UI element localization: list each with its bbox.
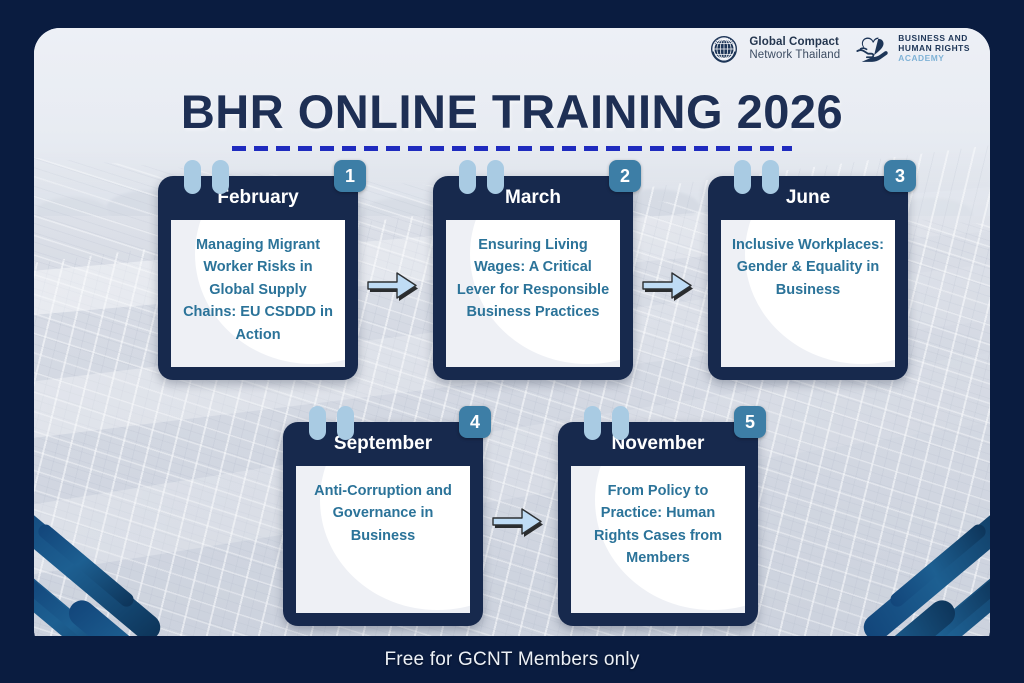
hand-heart-icon [854, 34, 890, 64]
calendar-tab-icon [459, 160, 476, 194]
card-number-badge: 3 [884, 160, 916, 192]
calendar-tab-icon [762, 160, 779, 194]
card-number-badge: 2 [609, 160, 641, 192]
calendar-tabs [184, 160, 229, 194]
calendar-tabs [459, 160, 504, 194]
card-body-panel: Anti-Corruption and Governance in Busine… [296, 466, 470, 613]
calendar-tab-icon [309, 406, 326, 440]
calendar-tab-icon [487, 160, 504, 194]
logo-global-compact-network-thailand: Global Compact Network Thailand [707, 32, 840, 66]
decoration-bars-left [34, 480, 244, 655]
card-body-panel: From Policy to Practice: Human Rights Ca… [571, 466, 745, 613]
calendar-tabs [584, 406, 629, 440]
calendar-tabs [734, 160, 779, 194]
calendar-tab-icon [734, 160, 751, 194]
calendar-tab-icon [612, 406, 629, 440]
title-block: BHR ONLINE TRAINING 2026 [0, 84, 1024, 151]
card-number-badge: 5 [734, 406, 766, 438]
card-body-panel: Managing Migrant Worker Risks in Global … [171, 220, 345, 367]
card-number-badge: 1 [334, 160, 366, 192]
training-card-3[interactable]: 3 June Inclusive Workplaces: Gender & Eq… [708, 176, 908, 380]
training-card-2[interactable]: 2 March Ensuring Living Wages: A Critica… [433, 176, 633, 380]
logo-business-and-human-rights-academy: BUSINESS AND HUMAN RIGHTS ACADEMY [854, 34, 970, 64]
training-card-4[interactable]: 4 September Anti-Corruption and Governan… [283, 422, 483, 626]
logo-bhr-line3: ACADEMY [898, 54, 970, 64]
arrow-right-icon [639, 268, 695, 302]
card-body-panel: Ensuring Living Wages: A Critical Lever … [446, 220, 620, 367]
calendar-tab-icon [184, 160, 201, 194]
poster-frame: Global Compact Network Thailand BUSINESS… [0, 0, 1024, 683]
card-topic: Anti-Corruption and Governance in Busine… [296, 466, 470, 557]
card-topic: Ensuring Living Wages: A Critical Lever … [446, 220, 620, 334]
card-body-panel: Inclusive Workplaces: Gender & Equality … [721, 220, 895, 367]
logo-bar: Global Compact Network Thailand BUSINESS… [707, 32, 970, 66]
un-global-compact-globe-icon [707, 32, 741, 66]
calendar-tabs [309, 406, 354, 440]
card-topic: From Policy to Practice: Human Rights Ca… [571, 466, 745, 580]
decoration-bars-right [780, 480, 990, 655]
card-number-badge: 4 [459, 406, 491, 438]
calendar-tab-icon [212, 160, 229, 194]
page-title: BHR ONLINE TRAINING 2026 [0, 84, 1024, 139]
calendar-tab-icon [584, 406, 601, 440]
title-dashed-rule [232, 146, 792, 151]
training-card-1[interactable]: 1 February Managing Migrant Worker Risks… [158, 176, 358, 380]
calendar-tab-icon [337, 406, 354, 440]
logo-gc-line1: Global Compact [749, 36, 840, 49]
arrow-right-icon [364, 268, 420, 302]
arrow-right-icon [489, 504, 545, 538]
training-card-5[interactable]: 5 November From Policy to Practice: Huma… [558, 422, 758, 626]
logo-gc-line2: Network Thailand [749, 49, 840, 62]
card-topic: Inclusive Workplaces: Gender & Equality … [721, 220, 895, 311]
card-topic: Managing Migrant Worker Risks in Global … [171, 220, 345, 356]
footer-band: Free for GCNT Members only [0, 636, 1024, 683]
footer-text: Free for GCNT Members only [384, 649, 639, 671]
